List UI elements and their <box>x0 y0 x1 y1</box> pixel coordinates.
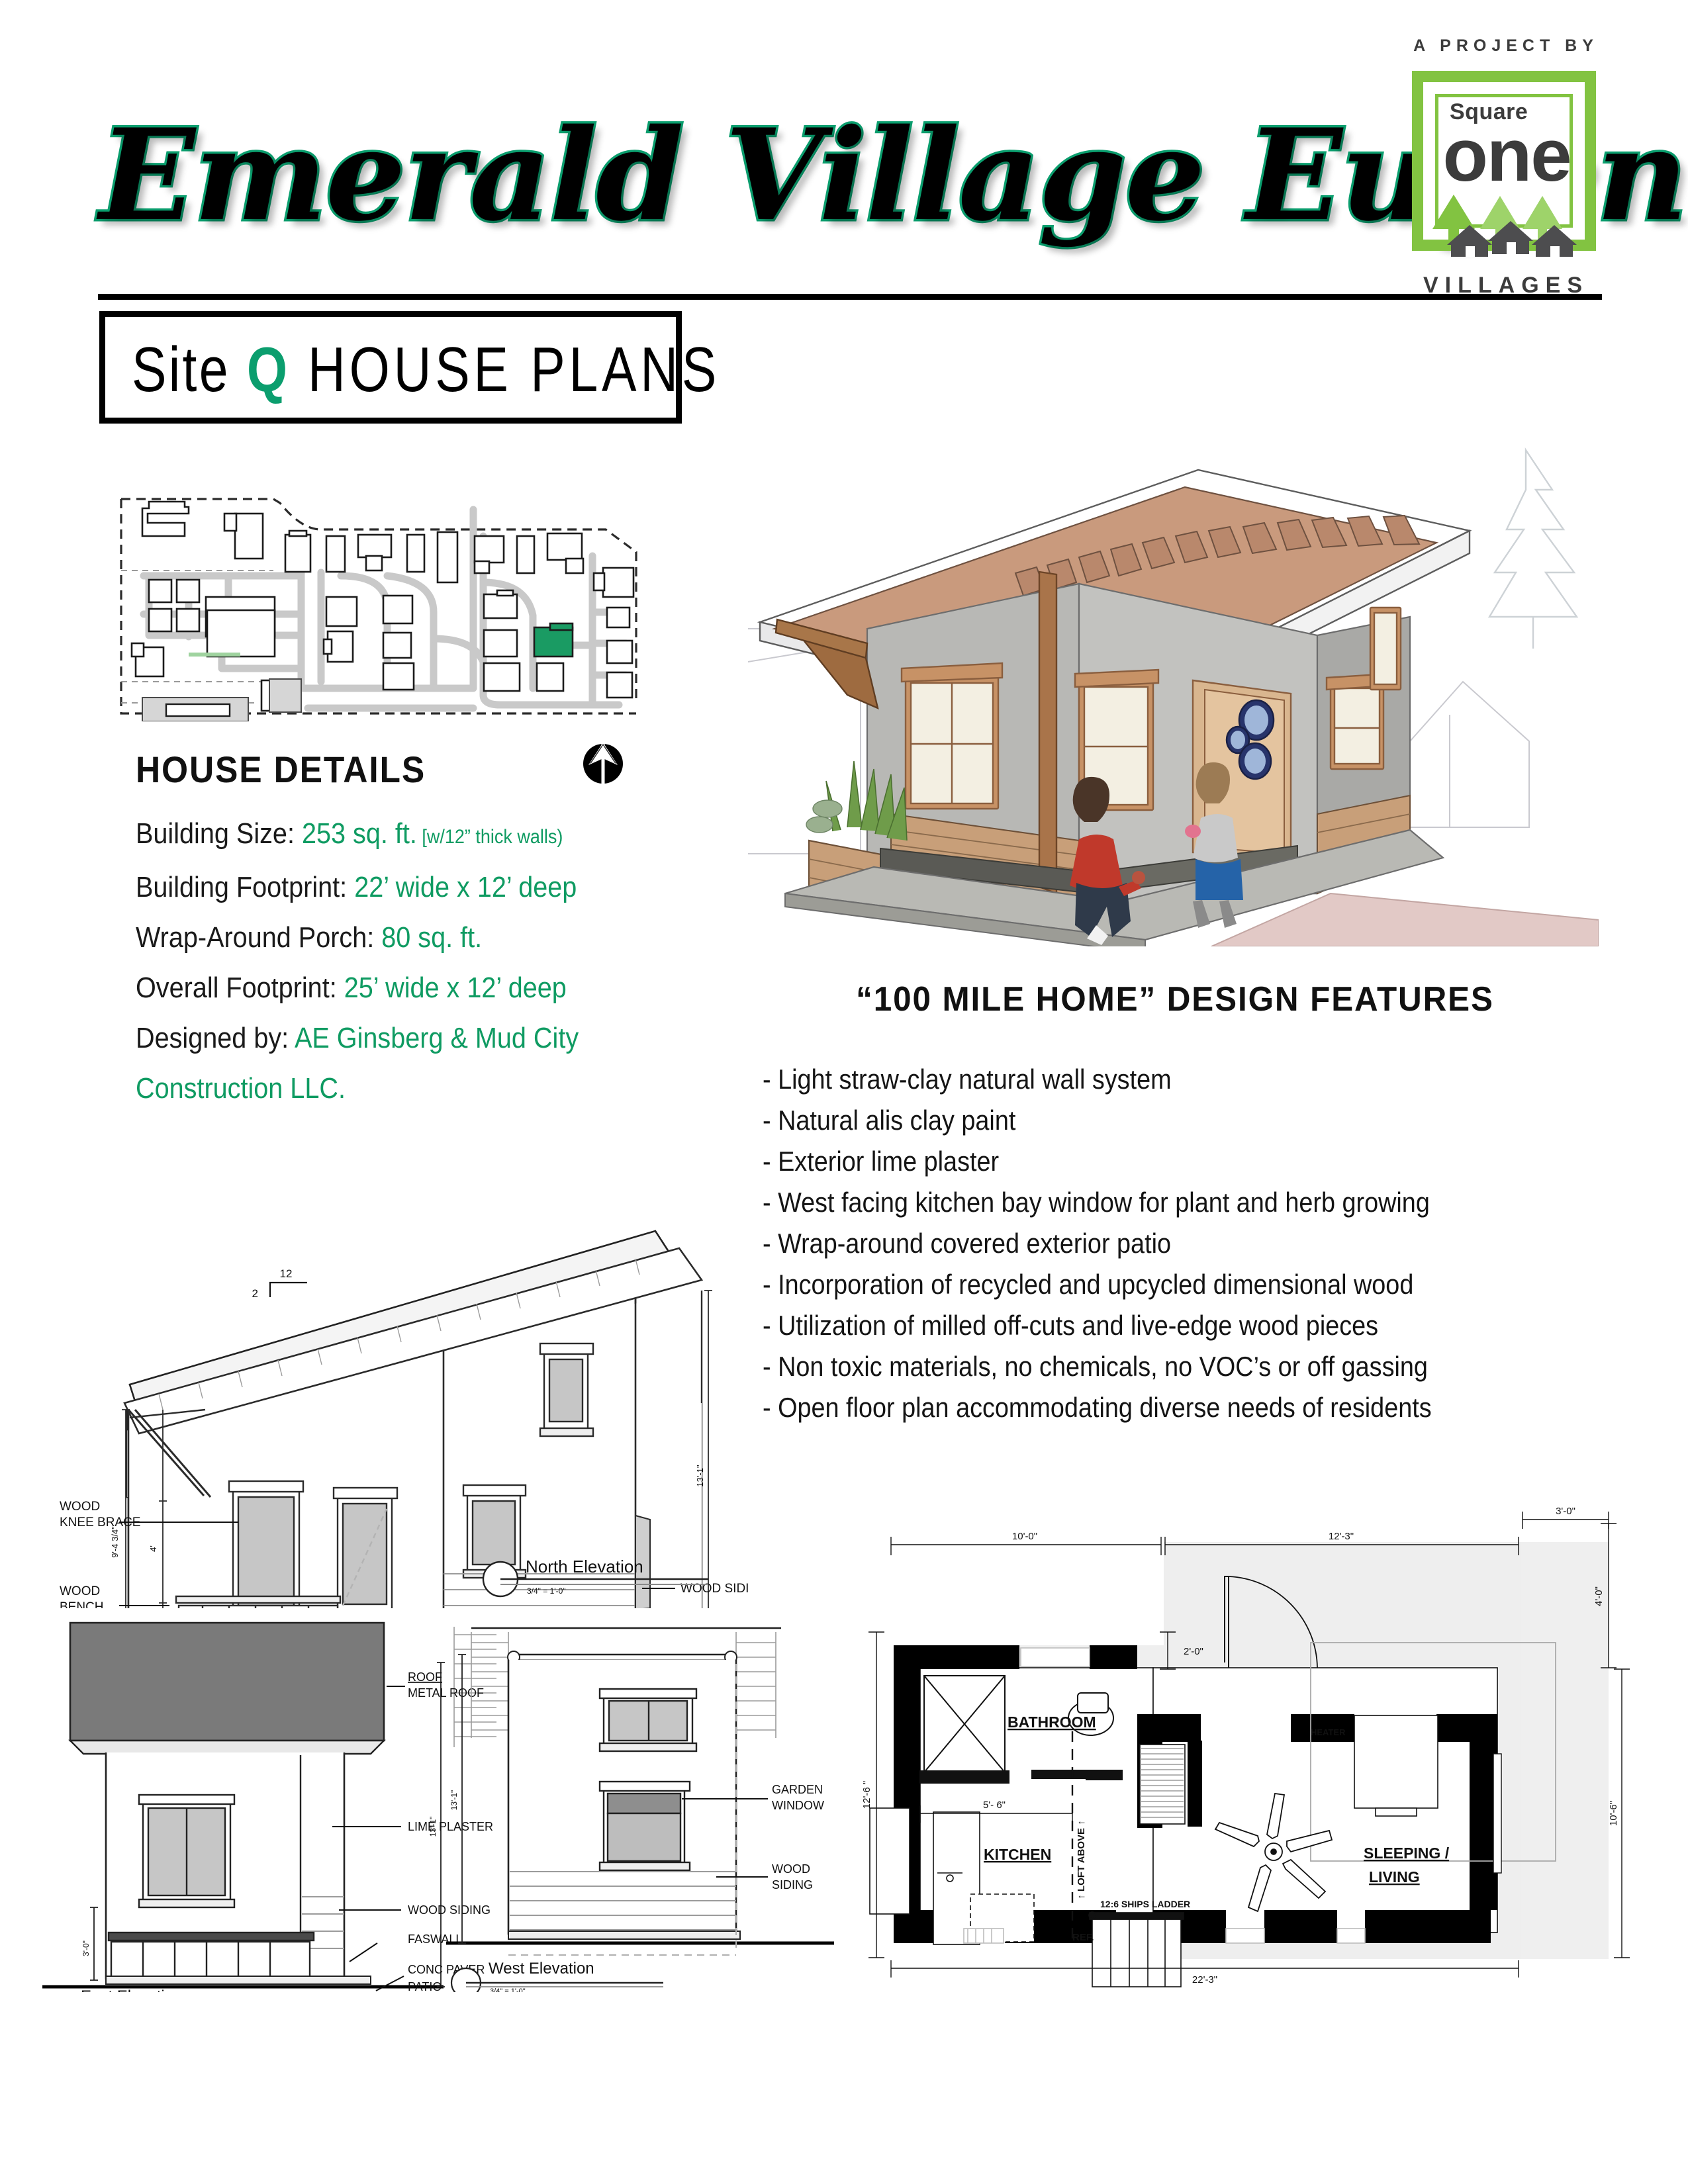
annotation-ships-ladder: 12:6 SHIPS LADDER <box>1100 1899 1190 1909</box>
dim-overall-height: 13'-1" <box>695 1465 705 1487</box>
highlighted-site-q <box>534 627 573 657</box>
detail-label: Overall Footprint: <box>136 972 344 1004</box>
feature-item: - Open floor plan accommodating diverse … <box>763 1387 1537 1428</box>
west-elevation-drawing: 13'-1" GARDEN WINDOW WOOD SIDING West El… <box>437 1608 847 1992</box>
room-label-living: LIVING <box>1369 1868 1420 1886</box>
north-elevation-scale: 3/4" = 1'-0" <box>527 1586 566 1596</box>
callout-wood: WOOD <box>772 1862 810 1876</box>
room-label-sleeping: SLEEPING / <box>1364 1844 1450 1862</box>
logo-kicker-text: A PROJECT BY <box>1380 36 1632 56</box>
detail-label: Building Size: <box>136 817 302 850</box>
callout-siding: SIDING <box>772 1878 813 1891</box>
room-label-bathroom: BATHROOM <box>1008 1713 1096 1731</box>
site-prefix: Site <box>132 334 247 405</box>
dim-left-overall: 12'-6 " <box>861 1781 872 1809</box>
site-plans-title-box: Site Q HOUSE PLANS <box>99 311 682 424</box>
north-elevation-drawing: 9'-4 3/4" 4' 13'-1" 2 12 WOOD KNEE BRACE… <box>40 1211 748 1608</box>
callout-wood-bench-1: WOOD <box>60 1584 100 1598</box>
detail-row-building-size: Building Size: 253 sq. ft. [w/12” thick … <box>136 813 636 858</box>
dim-bath-offset: 2'-0" <box>1184 1646 1203 1657</box>
dim-top-mid: 12'-3" <box>1329 1531 1354 1542</box>
detail-row-designed-by: Designed by: AE Ginsberg & Mud City <box>136 1018 636 1059</box>
square-one-villages-logo: A PROJECT BY Square one <box>1380 36 1632 295</box>
dim-top-right: 3'-0" <box>1556 1506 1575 1517</box>
dim-overall-height: 13'-1" <box>449 1790 459 1811</box>
callout-garden: GARDEN <box>772 1783 823 1796</box>
dim-top-left: 10'-0" <box>1012 1531 1037 1542</box>
annotation-heater: HEATER <box>1311 1727 1346 1737</box>
logo-trees-houses-icon <box>1429 188 1591 261</box>
house-details-heading: HOUSE DETAILS <box>136 748 647 791</box>
house-rendering-image <box>748 430 1599 946</box>
house-details-block: HOUSE DETAILS Building Size: 253 sq. ft.… <box>136 748 692 1109</box>
site-suffix: HOUSE PLANS <box>289 334 720 405</box>
detail-designed-by-wrap: Construction LLC. <box>136 1068 636 1109</box>
page-title: Emerald Village Eugene <box>99 99 1344 251</box>
feature-item: - Wrap-around covered exterior patio <box>763 1223 1537 1264</box>
detail-row-building-footprint: Building Footprint: 22’ wide x 12’ deep <box>136 867 636 908</box>
header-divider <box>98 294 1602 300</box>
logo-frame: Square one <box>1412 71 1596 251</box>
detail-label: Wrap-Around Porch: <box>136 921 381 954</box>
design-features-title: “100 MILE HOME” DESIGN FEATURES <box>769 979 1581 1019</box>
dim-sill-height: 3'-0" <box>81 1940 91 1956</box>
detail-value: AE Ginsberg & Mud City <box>295 1022 579 1054</box>
logo-one-word: one <box>1427 118 1586 193</box>
north-arrow-icon <box>579 739 627 786</box>
feature-item: - West facing kitchen bay window for pla… <box>763 1182 1537 1223</box>
feature-item: - Exterior lime plaster <box>763 1141 1537 1182</box>
east-elevation-title: East Elevation <box>81 1987 182 1992</box>
masthead: Emerald Village Eugene A PROJECT BY Squa… <box>0 0 1688 298</box>
room-label-kitchen: KITCHEN <box>984 1846 1051 1863</box>
dim-window-head: 4' <box>148 1545 158 1552</box>
roof-pitch-rise: 2 <box>252 1287 258 1300</box>
page-root: Emerald Village Eugene A PROJECT BY Squa… <box>0 0 1688 2184</box>
site-plans-title: Site Q HOUSE PLANS <box>132 330 720 410</box>
annotation-ref: REF. <box>1072 1932 1094 1943</box>
detail-label: Building Footprint: <box>136 871 354 903</box>
detail-row-overall-footprint: Overall Footprint: 25’ wide x 12’ deep <box>136 968 636 1009</box>
feature-item: - Non toxic materials, no chemicals, no … <box>763 1346 1537 1387</box>
detail-value: 25’ wide x 12’ deep <box>344 972 567 1004</box>
north-elevation-title: North Elevation <box>526 1557 643 1576</box>
east-elevation-drawing: 3'-0" 13'-1" ROOF METAL ROOF LIME PLASTE… <box>33 1608 496 1992</box>
feature-item: - Light straw-clay natural wall system <box>763 1059 1537 1100</box>
dim-right-upper: 4'-0" <box>1593 1586 1605 1606</box>
roof-pitch-run: 12 <box>280 1267 293 1280</box>
floor-plan-drawing: BATHROOM KITCHEN SLEEPING / LIVING HEATE… <box>854 1502 1635 1992</box>
west-elevation-title: West Elevation <box>489 1960 594 1978</box>
callout-wood-knee-brace-1: WOOD <box>60 1500 100 1514</box>
west-elevation-scale: 3/4" = 1'-0" <box>490 1987 526 1992</box>
callout-wood-bench-2: BENCH <box>60 1600 104 1608</box>
feature-item: - Natural alis clay paint <box>763 1100 1537 1141</box>
site-letter: Q <box>247 334 290 405</box>
detail-note: [w/12” thick walls) <box>417 826 563 848</box>
detail-value: 80 sq. ft. <box>381 921 482 954</box>
village-site-plan-map <box>103 470 659 721</box>
detail-value: 22’ wide x 12’ deep <box>354 871 577 903</box>
dim-kitchen-width: 5'- 6" <box>983 1799 1006 1811</box>
callout-window: WINDOW <box>772 1799 824 1812</box>
feature-item: - Incorporation of recycled and upcycled… <box>763 1264 1537 1305</box>
callout-wood-knee-brace-2: KNEE BRACE <box>60 1516 140 1529</box>
dim-plate-height: 9'-4 3/4" <box>110 1526 120 1558</box>
dim-right-lower: 10'-6" <box>1608 1801 1619 1826</box>
feature-item: - Utilization of milled off-cuts and liv… <box>763 1305 1537 1346</box>
detail-row-wrap-around-porch: Wrap-Around Porch: 80 sq. ft. <box>136 917 636 958</box>
detail-value: 253 sq. ft. <box>302 817 417 850</box>
design-features-list: - Light straw-clay natural wall system -… <box>763 1059 1623 1428</box>
dim-bottom-overall: 22'-3" <box>1192 1974 1217 1985</box>
detail-label: Designed by: <box>136 1022 295 1054</box>
annotation-loft-above: ↑ LOFT ABOVE ↑ <box>1076 1820 1087 1899</box>
